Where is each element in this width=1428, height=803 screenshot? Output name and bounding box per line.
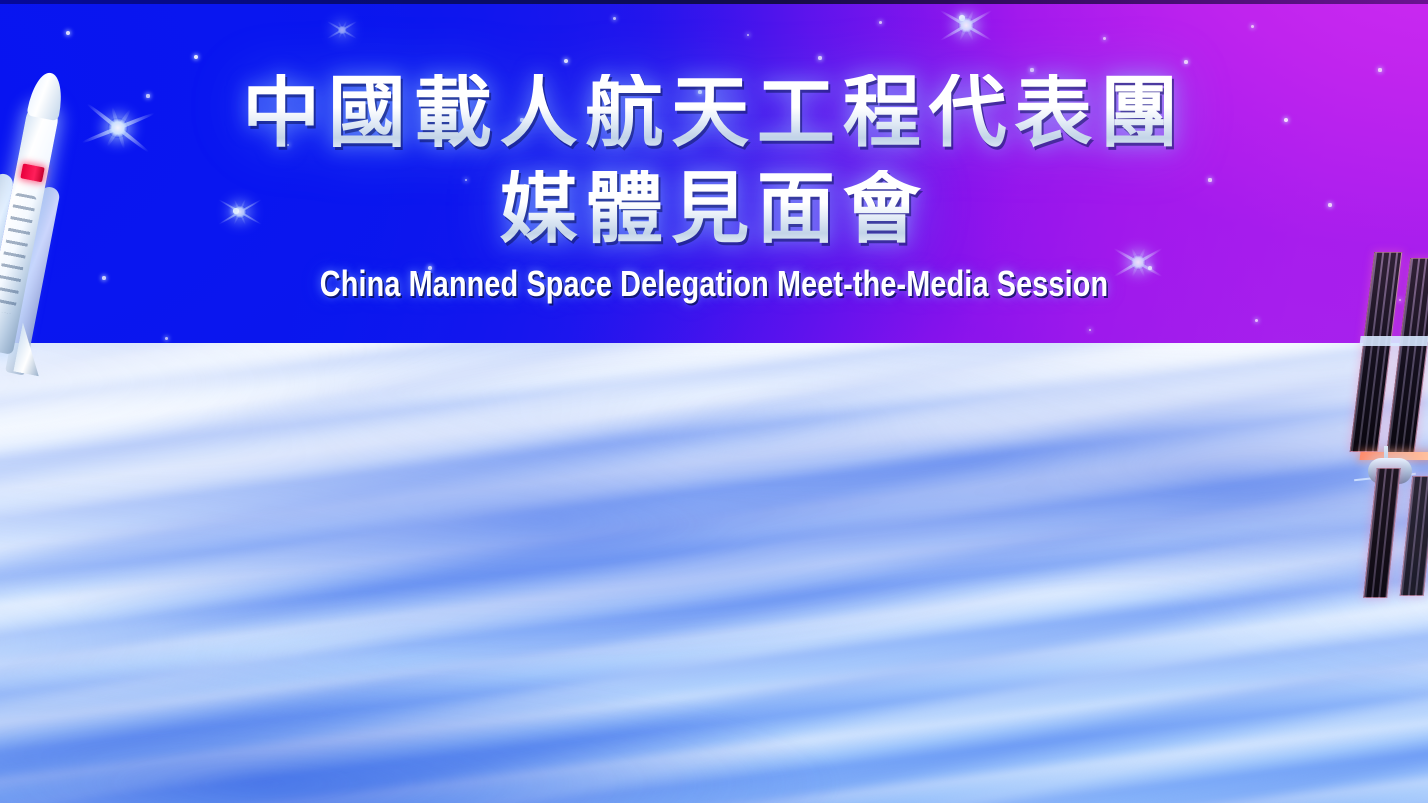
solar-panel-lower-left bbox=[1363, 468, 1401, 598]
presentation-backdrop: 中國載人航天工程代表團 媒體見面會 China Manned Space Del… bbox=[0, 0, 1428, 803]
solar-panel-lower-right bbox=[1400, 476, 1428, 596]
earth-limb-rim bbox=[0, 343, 1428, 803]
earth-from-orbit bbox=[0, 343, 1428, 803]
screen-top-edge bbox=[0, 0, 1428, 4]
backdrop-title-block: 中國載人航天工程代表團 媒體見面會 China Manned Space Del… bbox=[0, 74, 1428, 305]
title-chinese-line-1: 中國載人航天工程代表團 bbox=[0, 74, 1428, 154]
subtitle-english: China Manned Space Delegation Meet-the-M… bbox=[143, 263, 1285, 305]
title-chinese-line-2: 媒體見面會 bbox=[0, 170, 1428, 250]
solar-panel-crossbar bbox=[1359, 336, 1428, 346]
